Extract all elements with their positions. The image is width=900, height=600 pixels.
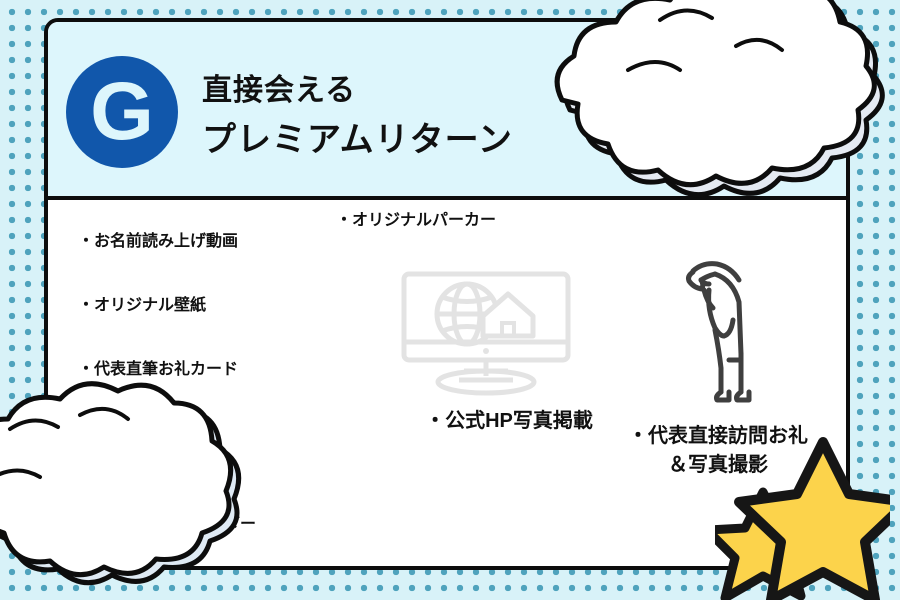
- list-item: ・代表直筆お礼カード: [78, 338, 348, 380]
- header-title-line1: 直接会える: [202, 70, 513, 112]
- header-title-block: 直接会える プレミアムリターン: [202, 70, 513, 164]
- list-item-label: ・【限定】モフモフ: [78, 489, 214, 506]
- list-item: ・【限定】モフモフ ミク爺キーホルダー: [78, 466, 348, 556]
- list-item-label: ・オリジナル壁紙: [78, 297, 206, 314]
- list-item-label: ・個別のお礼動画: [78, 425, 206, 442]
- list-item-label: ・オリジナルパーカー: [336, 210, 606, 231]
- list-item-label: ・代表直筆お礼カード: [78, 361, 238, 378]
- header-title-line2: プレミアムリターン: [202, 116, 513, 164]
- list-item: ・オリジナル壁紙: [78, 274, 348, 316]
- bowing-person-icon: [671, 250, 771, 410]
- star-burst-decoration: [715, 436, 890, 600]
- benefit-list-left: ・お名前読み上げ動画 ・オリジナル壁紙 ・代表直筆お礼カード ・個別のお礼動画 …: [78, 210, 348, 570]
- list-item-label: ・お名前読み上げ動画: [78, 233, 238, 250]
- list-item-sublabel: ミク爺キーホルダー: [112, 514, 348, 535]
- poster-canvas: G 直接会える プレミアムリターン ・お名前読み上げ動画 ・オリジナル壁紙 ・代…: [0, 0, 900, 600]
- grade-badge-g: G: [66, 56, 178, 168]
- benefit-column-middle: ・オリジナルパーカー: [336, 210, 606, 231]
- monitor-globe-house-icon: [391, 270, 581, 395]
- card-header-band: G 直接会える プレミアムリターン: [48, 22, 846, 200]
- list-item: ・個別のお礼動画: [78, 402, 348, 444]
- list-item: ・お名前読み上げ動画: [78, 210, 348, 252]
- hp-photo-caption: ・公式HP写真掲載: [394, 408, 624, 434]
